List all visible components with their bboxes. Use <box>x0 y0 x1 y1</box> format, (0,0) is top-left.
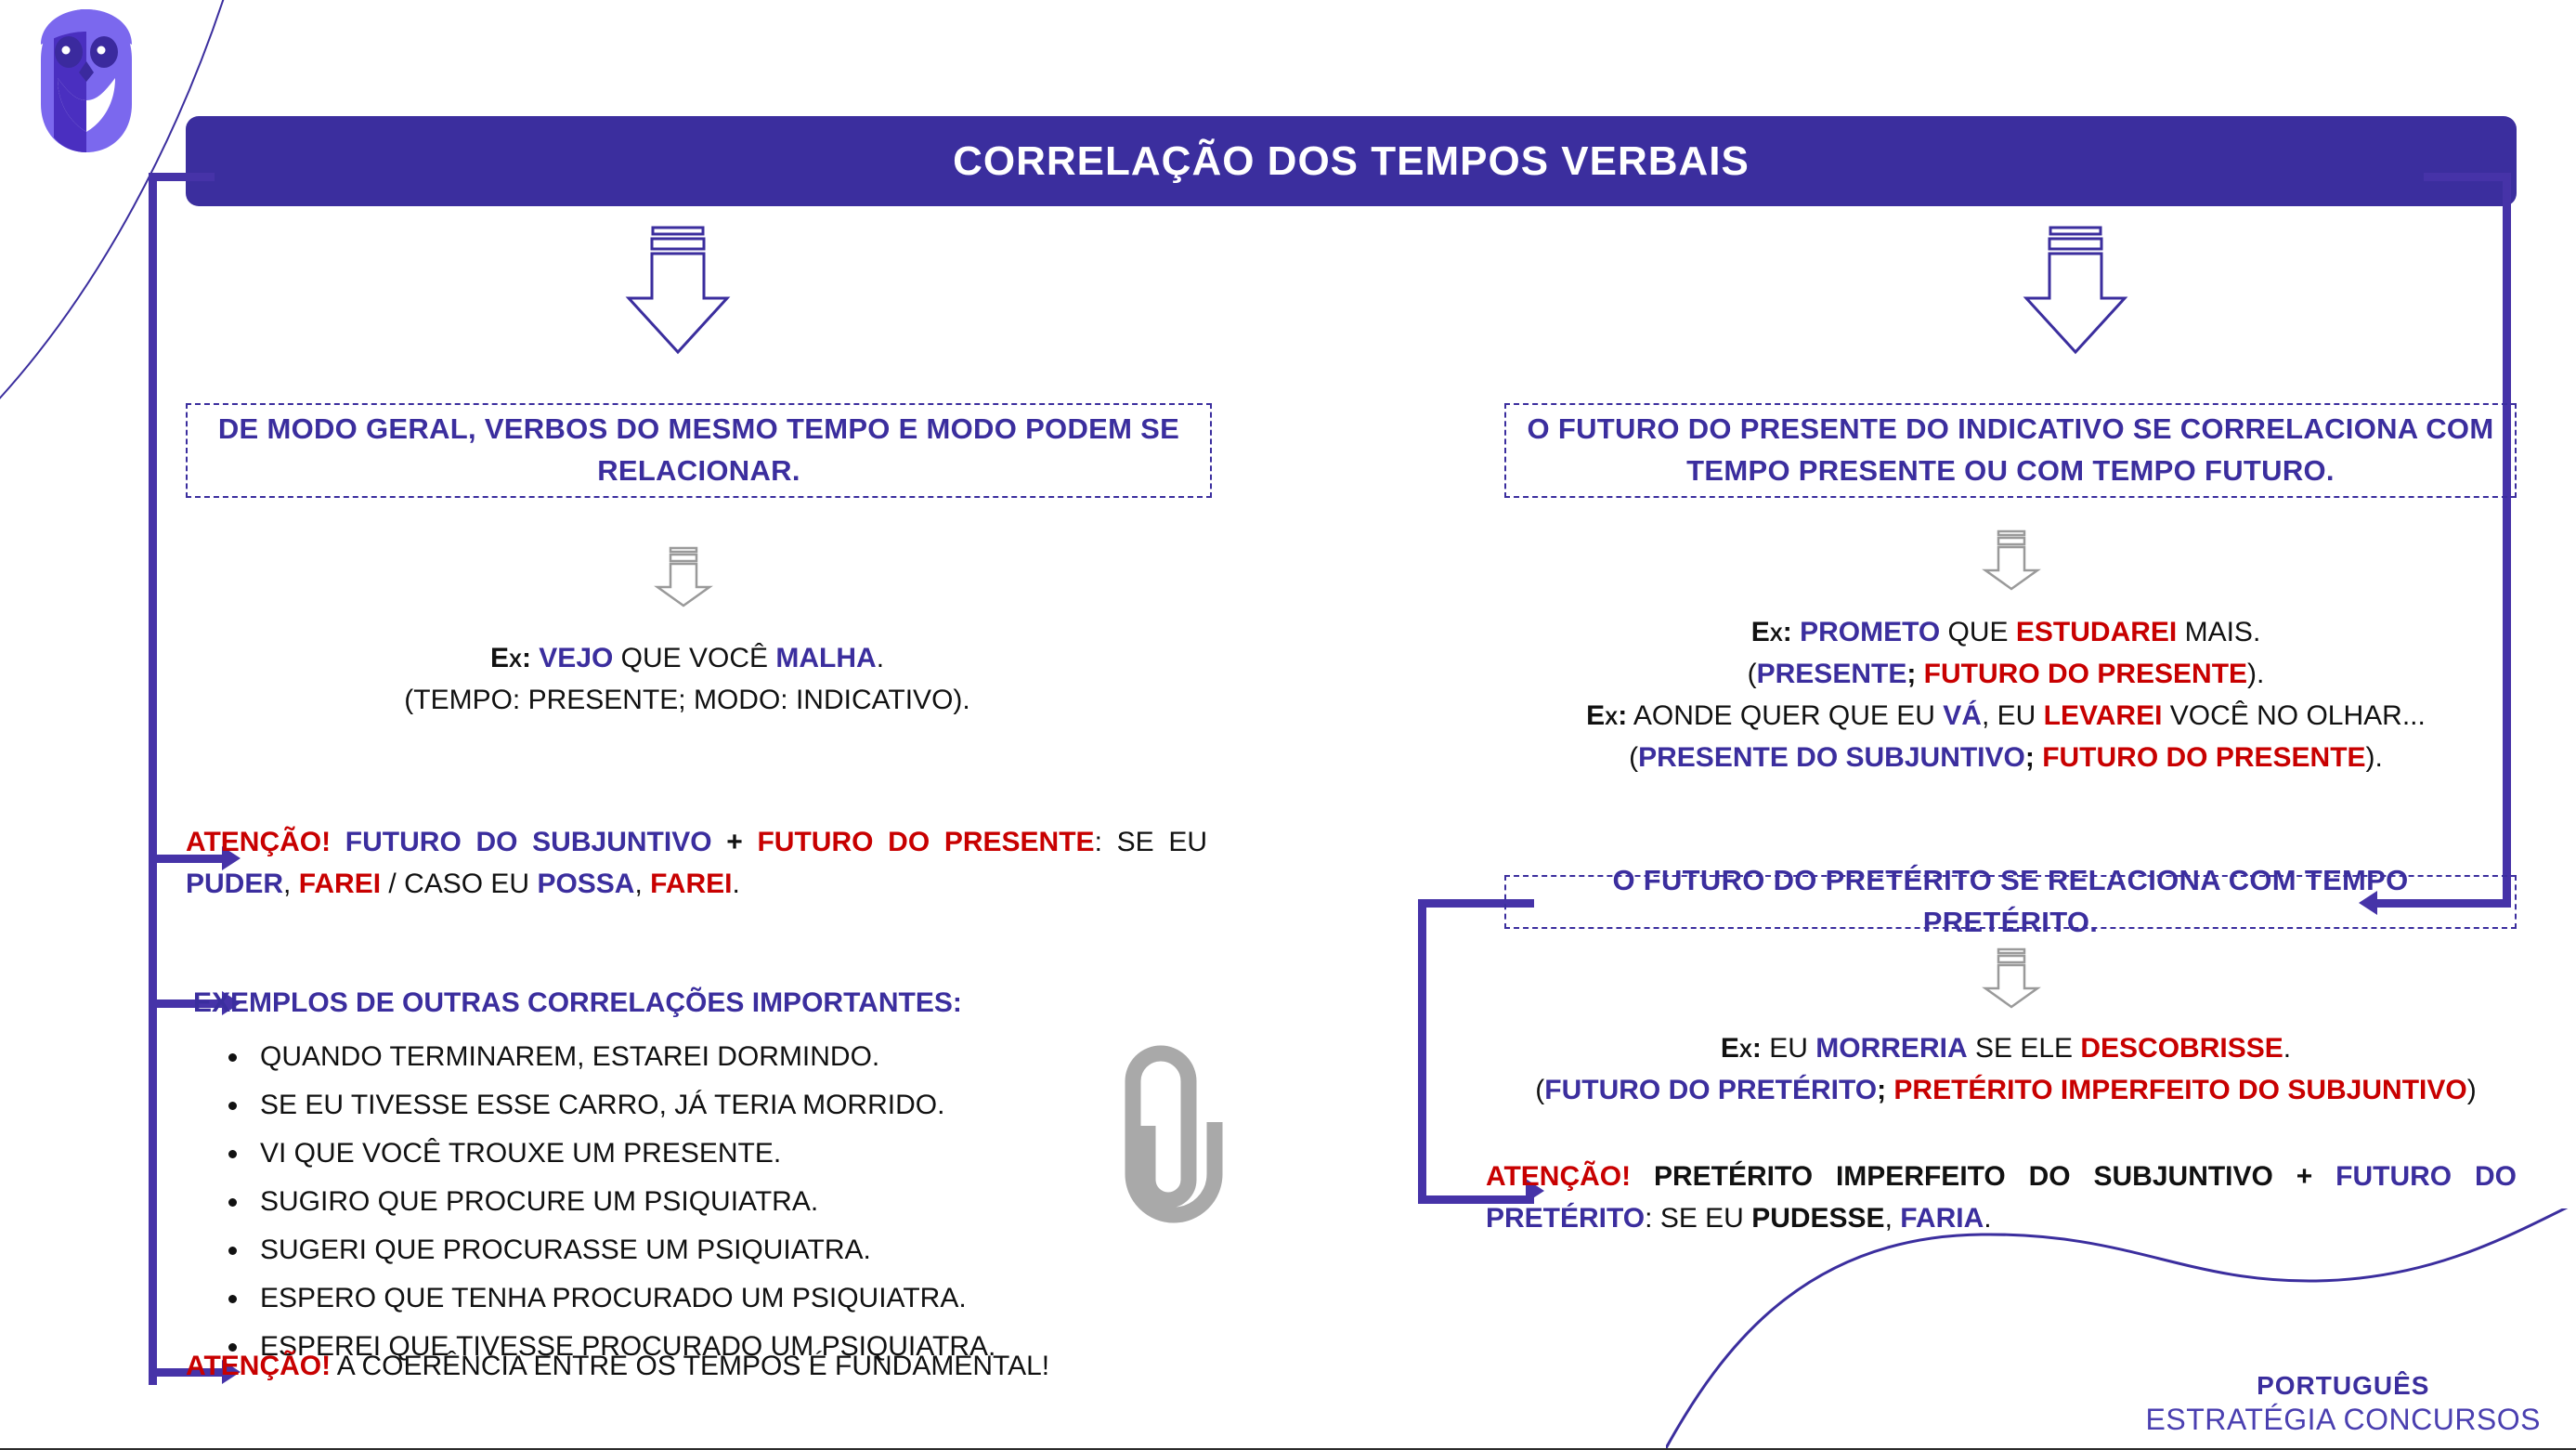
verb-possa: POSSA <box>537 869 634 899</box>
list-item: SUGIRO QUE PROCURE UM PSIQUIATRA. <box>212 1185 1140 1219</box>
paperclip-icon <box>1103 1033 1233 1230</box>
list-item: VI QUE VOCÊ TROUXE UM PRESENTE. <box>212 1137 1140 1170</box>
left-box-general-rule-text: DE MODO GERAL, VERBOS DO MESMO TEMPO E M… <box>208 409 1190 492</box>
left-examples-list: QUANDO TERMINAREM, ESTAREI DORMINDO. SE … <box>212 1040 1140 1378</box>
verb-prometo: PROMETO <box>1800 617 1940 647</box>
tense-preterito-imperfeito-subjuntivo: PRETÉRITO IMPERFEITO DO SUBJUNTIVO <box>1893 1075 2466 1105</box>
tense-presente: PRESENTE <box>1757 659 1907 689</box>
comma-1: , <box>283 869 299 899</box>
clause-1: SE EU <box>1117 827 1207 857</box>
right-example2-line-2: (FUTURO DO PRETÉRITO; PRETÉRITO IMPERFEI… <box>1467 1069 2544 1111</box>
verb-puder: PUDER <box>186 869 283 899</box>
end: MAIS. <box>2177 617 2260 647</box>
verb-descobrisse: DESCOBRISSE <box>2080 1033 2283 1064</box>
colon: : <box>1095 827 1117 857</box>
left-example-line-2: (TEMPO: PRESENTE; MODO: INDICATIVO). <box>353 679 1021 721</box>
comma-1: , <box>1885 1203 1901 1234</box>
slide-title-bar: CORRELAÇÃO DOS TEMPOS VERBAIS <box>186 116 2517 206</box>
example-end: . <box>877 643 884 673</box>
ex-label: Ex: <box>1586 700 1627 731</box>
left-example-line-1: Ex: VEJO QUE VOCÊ MALHA. <box>353 637 1021 679</box>
small-down-arrow-icon <box>1978 529 2045 591</box>
list-item: SUGERI QUE PROCURASSE UM PSIQUIATRA. <box>212 1234 1140 1267</box>
period: . <box>1984 1203 1991 1234</box>
footer-brand: PORTUGUÊS ESTRATÉGIA CONCURSOS <box>2146 1371 2541 1437</box>
tense-futuro-subjuntivo: FUTURO DO SUBJUNTIVO <box>345 827 712 857</box>
verb-morreria: MORRERIA <box>1815 1033 1967 1064</box>
right-example-line-2: (PRESENTE; FUTURO DO PRESENTE). <box>1477 653 2535 695</box>
seg-a: AONDE QUER QUE EU <box>1627 700 1943 731</box>
right-examples-block-1: Ex: PROMETO QUE ESTUDAREI MAIS. (PRESENT… <box>1477 611 2535 778</box>
down-arrow-icon <box>608 226 748 356</box>
close-paren: ). <box>2366 742 2383 773</box>
slash: / <box>381 869 404 899</box>
attention-2-rest: A COERÊNCIA ENTRE OS TEMPOS É FUNDAMENTA… <box>331 1351 1049 1381</box>
left-example-block: Ex: VEJO QUE VOCÊ MALHA. (TEMPO: PRESENT… <box>353 637 1021 721</box>
attention-label: ATENÇÃO! <box>186 827 331 857</box>
right-box-futuro-preterito-text: O FUTURO DO PRETÉRITO SE RELACIONA COM T… <box>1527 860 2494 944</box>
down-arrow-icon <box>2006 226 2145 356</box>
verb-va: VÁ <box>1943 700 1982 731</box>
tense-futuro-presente: FUTURO DO PRESENTE <box>1924 659 2247 689</box>
seg-b: , EU <box>1982 700 2044 731</box>
verb-farei-1: FAREI <box>299 869 381 899</box>
owl-logo <box>35 7 137 156</box>
example-mid: QUE VOCÊ <box>613 643 775 673</box>
open-paren: ( <box>1629 742 1638 773</box>
verb-pudesse: PUDESSE <box>1751 1203 1884 1234</box>
tense-futuro-presente: FUTURO DO PRESENTE <box>2042 742 2365 773</box>
attention-label: ATENÇÃO! <box>1486 1161 1631 1192</box>
close-paren: ) <box>2467 1075 2477 1105</box>
right-example-line-3: Ex: AONDE QUER QUE EU VÁ, EU LEVAREI VOC… <box>1477 695 2535 737</box>
small-down-arrow-icon <box>650 546 717 607</box>
verb-malha: MALHA <box>775 643 876 673</box>
verb-vejo: VEJO <box>539 643 613 673</box>
verb-faria: FARIA <box>1900 1203 1984 1234</box>
close-paren: ). <box>2247 659 2264 689</box>
left-attention-1: ATENÇÃO! FUTURO DO SUBJUNTIVO + FUTURO D… <box>186 821 1207 905</box>
right-example-line-1: Ex: PROMETO QUE ESTUDAREI MAIS. <box>1477 611 2535 653</box>
semicolon: ; <box>2025 742 2042 773</box>
semicolon: ; <box>1906 659 1923 689</box>
verb-estudarei: ESTUDAREI <box>2016 617 2177 647</box>
right-connector-top <box>2424 173 2511 181</box>
tense-preterito-imperfeito-subjuntivo: PRETÉRITO IMPERFEITO DO SUBJUNTIVO <box>1654 1161 2273 1192</box>
seg-a: EU <box>1762 1033 1815 1064</box>
period: . <box>733 869 740 899</box>
comma-2: , <box>634 869 650 899</box>
right-connector-spine <box>2503 173 2511 904</box>
right-example-line-4: (PRESENTE DO SUBJUNTIVO; FUTURO DO PRESE… <box>1477 737 2535 778</box>
verb-farei-2: FAREI <box>650 869 732 899</box>
end: . <box>2283 1033 2291 1064</box>
right-box-futuro-preterito: O FUTURO DO PRETÉRITO SE RELACIONA COM T… <box>1504 875 2517 929</box>
footer-company: ESTRATÉGIA CONCURSOS <box>2146 1403 2541 1437</box>
verb-levarei: LEVAREI <box>2044 700 2163 731</box>
open-paren: ( <box>1535 1075 1544 1105</box>
plus-sign: + <box>2273 1161 2335 1192</box>
semicolon: ; <box>1877 1075 1893 1105</box>
right-example2-line-1: Ex: EU MORRERIA SE ELE DESCOBRISSE. <box>1467 1027 2544 1069</box>
plus-sign: + <box>712 827 758 857</box>
tense-futuro-presente: FUTURO DO PRESENTE <box>757 827 1094 857</box>
small-down-arrow-icon <box>1978 947 2045 1009</box>
page-title: CORRELAÇÃO DOS TEMPOS VERBAIS <box>953 138 1750 185</box>
slide-canvas: CORRELAÇÃO DOS TEMPOS VERBAIS <box>0 0 2576 1450</box>
right-attention: ATENÇÃO! PRETÉRITO IMPERFEITO DO SUBJUNT… <box>1486 1156 2517 1239</box>
left-examples-heading: EXEMPLOS DE OUTRAS CORRELAÇÕES IMPORTANT… <box>193 982 1215 1024</box>
list-item: QUANDO TERMINAREM, ESTAREI DORMINDO. <box>212 1040 1140 1074</box>
left-attention-2: ATENÇÃO! A COERÊNCIA ENTRE OS TEMPOS É F… <box>186 1345 1254 1387</box>
tense-presente-subjuntivo: PRESENTE DO SUBJUNTIVO <box>1638 742 2025 773</box>
list-item: SE EU TIVESSE ESSE CARRO, JÁ TERIA MORRI… <box>212 1089 1140 1122</box>
ex-label: Ex: <box>1751 617 1792 647</box>
open-paren: ( <box>1748 659 1757 689</box>
ex-label: Ex: <box>1721 1033 1762 1064</box>
right-box-futuro-presente: O FUTURO DO PRESENTE DO INDICATIVO SE CO… <box>1504 403 2517 498</box>
seg-c: VOCÊ NO OLHAR... <box>2162 700 2425 731</box>
ex-label: Ex: <box>490 643 531 673</box>
footer-subject: PORTUGUÊS <box>2146 1371 2541 1401</box>
colon: : <box>1645 1203 1660 1234</box>
right-box-futuro-presente-text: O FUTURO DO PRESENTE DO INDICATIVO SE CO… <box>1527 409 2494 492</box>
clause-2: CASO EU <box>404 869 537 899</box>
tense-futuro-preterito: FUTURO DO PRETÉRITO <box>1544 1075 1877 1105</box>
left-connector-spine <box>149 173 215 1385</box>
left-box-general-rule: DE MODO GERAL, VERBOS DO MESMO TEMPO E M… <box>186 403 1212 498</box>
seg-b: SE ELE <box>1968 1033 2081 1064</box>
left-examples-heading-text: EXEMPLOS DE OUTRAS CORRELAÇÕES IMPORTANT… <box>193 987 962 1018</box>
attention-label: ATENÇÃO! <box>186 1351 331 1381</box>
list-item: ESPERO QUE TENHA PROCURADO UM PSIQUIATRA… <box>212 1282 1140 1315</box>
mid: QUE <box>1940 617 2016 647</box>
right-examples-block-2: Ex: EU MORRERIA SE ELE DESCOBRISSE. (FUT… <box>1467 1027 2544 1111</box>
clause-1: SE EU <box>1660 1203 1751 1234</box>
